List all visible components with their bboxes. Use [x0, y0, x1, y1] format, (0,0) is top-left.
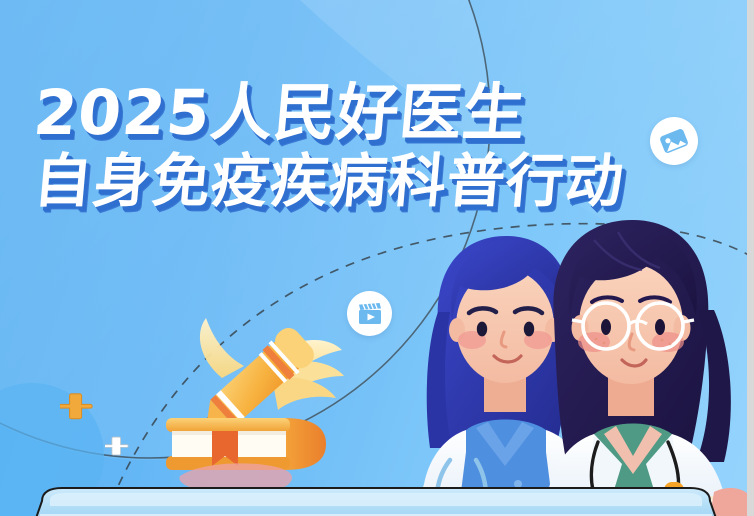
doctors-illustration: [414, 216, 754, 516]
image-badge[interactable]: [650, 117, 698, 165]
plus-icon: [105, 435, 131, 461]
banner-title: 2025人民好医生 自身免疫疾病科普行动: [34, 82, 624, 210]
title-line-2: 自身免疫疾病科普行动: [31, 152, 626, 210]
closed-book: [166, 418, 326, 470]
right-edge-gutter: [747, 0, 754, 516]
campaign-banner: 2025人民好医生 自身免疫疾病科普行动: [0, 0, 754, 516]
image-icon: [659, 126, 689, 156]
pencil-wing-left: [200, 318, 244, 378]
plus-icon: [60, 391, 96, 427]
video-clapperboard-icon: [356, 300, 384, 328]
video-badge[interactable]: [347, 291, 392, 336]
plus-decoration-white: [105, 435, 131, 461]
desk-highlight: [50, 493, 702, 506]
doctor-right: [540, 220, 732, 516]
title-line-1: 2025人民好医生: [31, 82, 626, 144]
desk-bar: [26, 487, 726, 516]
winged-pencil-and-book-illustration: [160, 300, 380, 500]
plus-decoration-orange: [60, 391, 96, 427]
